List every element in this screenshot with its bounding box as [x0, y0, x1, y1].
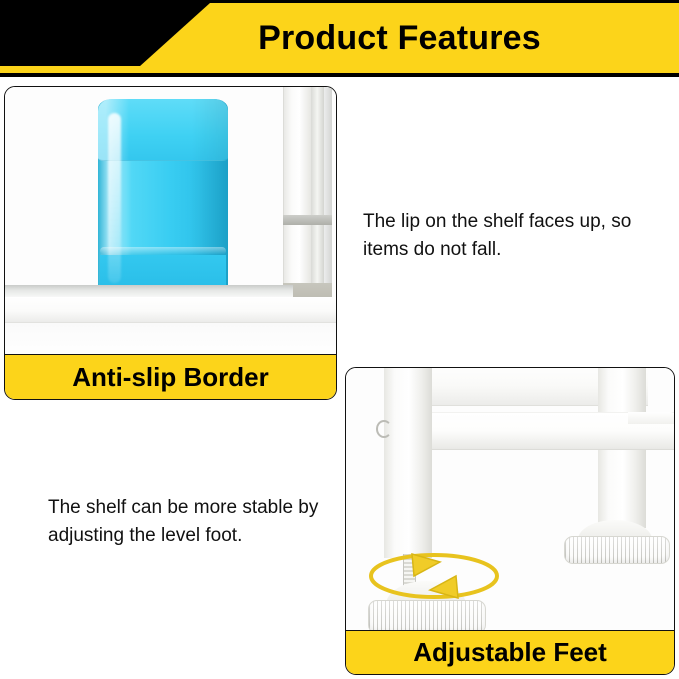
page-title: Product Features — [0, 3, 679, 73]
anti-slip-scene: 0.75in — [5, 87, 336, 354]
shelf-lip-top-edge — [5, 285, 293, 297]
foot-right-disc — [564, 536, 670, 564]
adjustable-feet-photo — [346, 368, 674, 630]
anti-slip-photo: 0.75in — [5, 87, 336, 354]
shelf-leg-left — [384, 368, 432, 558]
adjustable-feet-scene — [346, 368, 674, 630]
infographic-root: Product Features — [0, 0, 679, 679]
shelf-underside — [5, 323, 336, 354]
description-shelf-lip: The lip on the shelf faces up, so items … — [363, 208, 653, 264]
header-banner: Product Features — [0, 0, 679, 77]
shelf-post-joint-upper — [283, 215, 332, 225]
caption-anti-slip-border: Anti-slip Border — [5, 354, 336, 399]
blue-bottle — [98, 99, 228, 299]
description-level-foot: The shelf can be more stable by adjustin… — [48, 494, 348, 550]
shelf-lip-face — [5, 297, 336, 323]
foot-left-disc — [368, 600, 486, 630]
caption-adjustable-feet: Adjustable Feet — [346, 630, 674, 674]
panel-adjustable-feet: Adjustable Feet — [345, 367, 675, 675]
panel-anti-slip-border: 0.75in Anti-slip Border — [4, 86, 337, 400]
side-hook-icon — [376, 420, 392, 438]
shelf-rail-lower-cap — [628, 412, 674, 424]
bottle-highlight — [108, 113, 121, 283]
